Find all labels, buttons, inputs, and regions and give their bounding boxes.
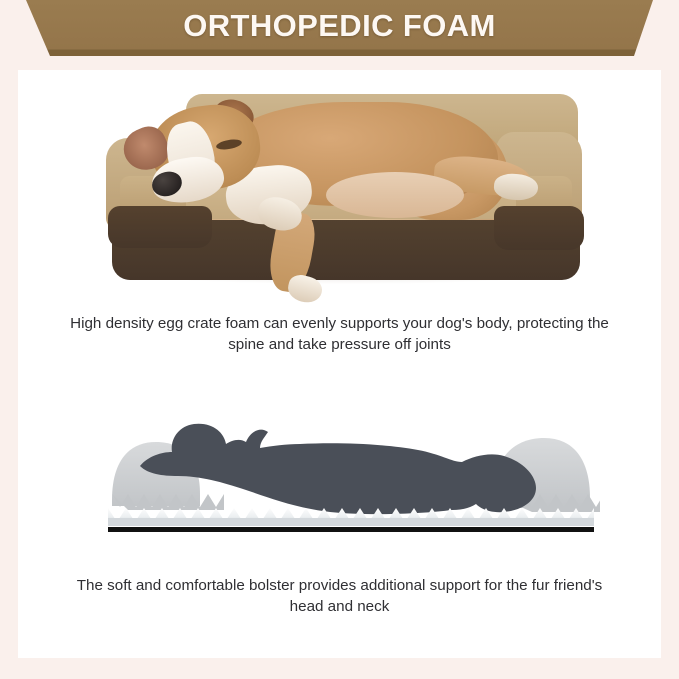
dog-belly bbox=[326, 172, 464, 218]
diagram-base-bar bbox=[108, 527, 594, 532]
infographic-page: ORTHOPEDIC FOAM bbox=[0, 0, 679, 679]
bed-left-base-panel bbox=[108, 206, 212, 248]
header-banner: ORTHOPEDIC FOAM bbox=[0, 0, 679, 56]
foam-cross-section-diagram bbox=[100, 390, 600, 540]
page-title: ORTHOPEDIC FOAM bbox=[0, 0, 679, 52]
product-photo bbox=[90, 80, 600, 310]
content-card: High density egg crate foam can evenly s… bbox=[18, 70, 661, 658]
caption-bolster-support: The soft and comfortable bolster provide… bbox=[58, 575, 621, 617]
caption-foam-support: High density egg crate foam can evenly s… bbox=[58, 313, 621, 355]
bed-right-base-panel bbox=[494, 206, 584, 250]
